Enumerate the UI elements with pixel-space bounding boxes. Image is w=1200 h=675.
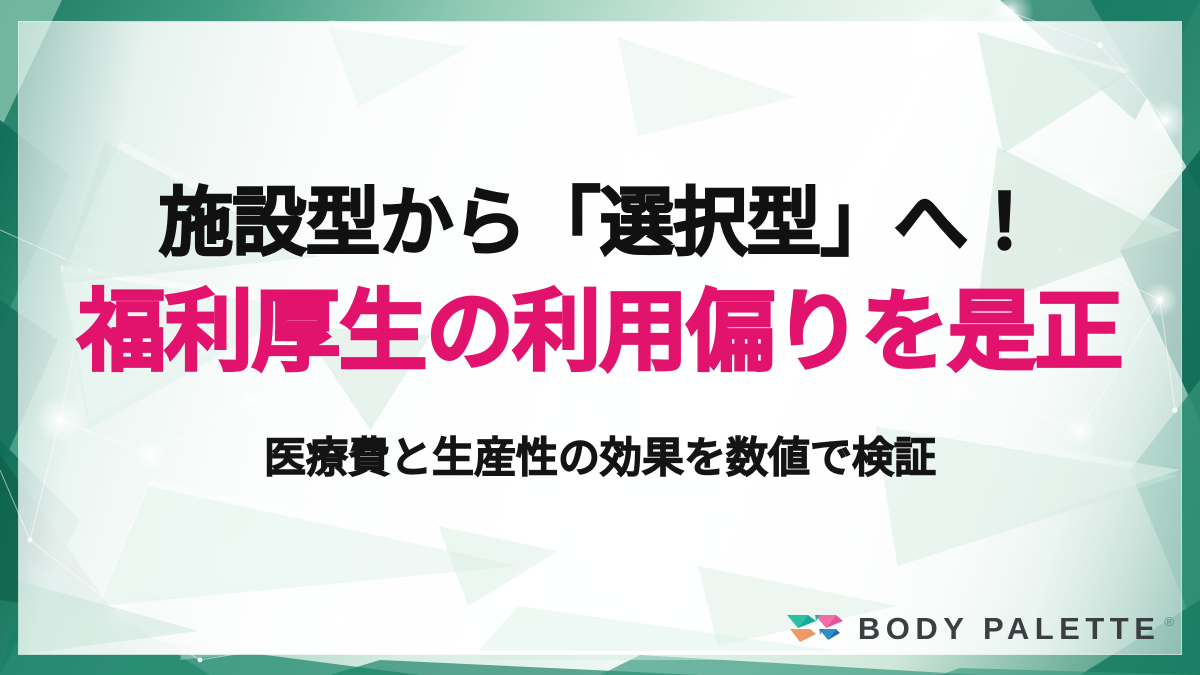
- logo-text: BODY PALETTE: [858, 613, 1161, 644]
- content-panel: [18, 21, 1182, 655]
- panel-low-poly-accents: [19, 22, 1181, 655]
- body-palette-bp-mark-icon: [786, 609, 844, 647]
- registered-trademark-icon: ®: [1164, 615, 1174, 628]
- slide-canvas: 施設型から「選択型」へ！ 福利厚生の利用偏りを是正 医療費と生産性の効果を数値で…: [0, 0, 1200, 675]
- brand-logo: BODY PALETTE ®: [786, 609, 1174, 647]
- logo-wordmark: BODY PALETTE ®: [858, 613, 1174, 644]
